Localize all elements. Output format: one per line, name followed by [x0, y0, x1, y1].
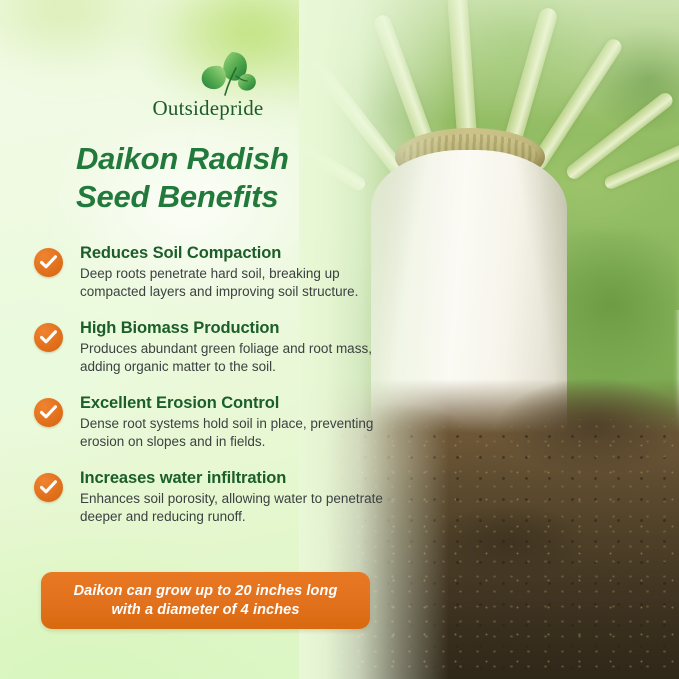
brand-logo[interactable]: Outsidepride: [140, 52, 276, 124]
callout-line-1: Daikon can grow up to 20 inches long: [74, 582, 338, 601]
title-line-2: Seed Benefits: [76, 178, 406, 216]
callout-text: Daikon can grow up to 20 inches long wit…: [74, 582, 338, 619]
check-circle-icon: [34, 473, 63, 502]
benefit-description: Dense root systems hold soil in place, p…: [80, 415, 402, 451]
benefit-description: Produces abundant green foliage and root…: [80, 340, 402, 376]
benefit-title: Excellent Erosion Control: [80, 393, 409, 413]
title-line-1: Daikon Radish: [76, 140, 406, 178]
check-circle-icon: [34, 248, 63, 277]
check-circle-icon: [34, 323, 63, 352]
fact-callout-banner: Daikon can grow up to 20 inches long wit…: [41, 572, 370, 629]
content-column: Outsidepride Daikon Radish Seed Benefits…: [0, 0, 420, 679]
benefit-title: Reduces Soil Compaction: [80, 243, 409, 263]
benefit-item: Excellent Erosion Control Dense root sys…: [34, 393, 409, 455]
sprout-leaves-icon: [192, 50, 258, 100]
callout-line-2: with a diameter of 4 inches: [74, 601, 338, 620]
benefit-description: Enhances soil porosity, allowing water t…: [80, 490, 402, 526]
brand-name: Outsidepride: [140, 96, 276, 121]
benefit-title: Increases water infiltration: [80, 468, 409, 488]
benefit-item: Reduces Soil Compaction Deep roots penet…: [34, 243, 409, 305]
benefits-list: Reduces Soil Compaction Deep roots penet…: [34, 243, 409, 543]
check-circle-icon: [34, 398, 63, 427]
infographic-canvas: Outsidepride Daikon Radish Seed Benefits…: [0, 0, 679, 679]
page-title: Daikon Radish Seed Benefits: [76, 140, 406, 216]
benefit-item: High Biomass Production Produces abundan…: [34, 318, 409, 380]
benefit-title: High Biomass Production: [80, 318, 409, 338]
benefit-description: Deep roots penetrate hard soil, breaking…: [80, 265, 402, 301]
benefit-item: Increases water infiltration Enhances so…: [34, 468, 409, 530]
